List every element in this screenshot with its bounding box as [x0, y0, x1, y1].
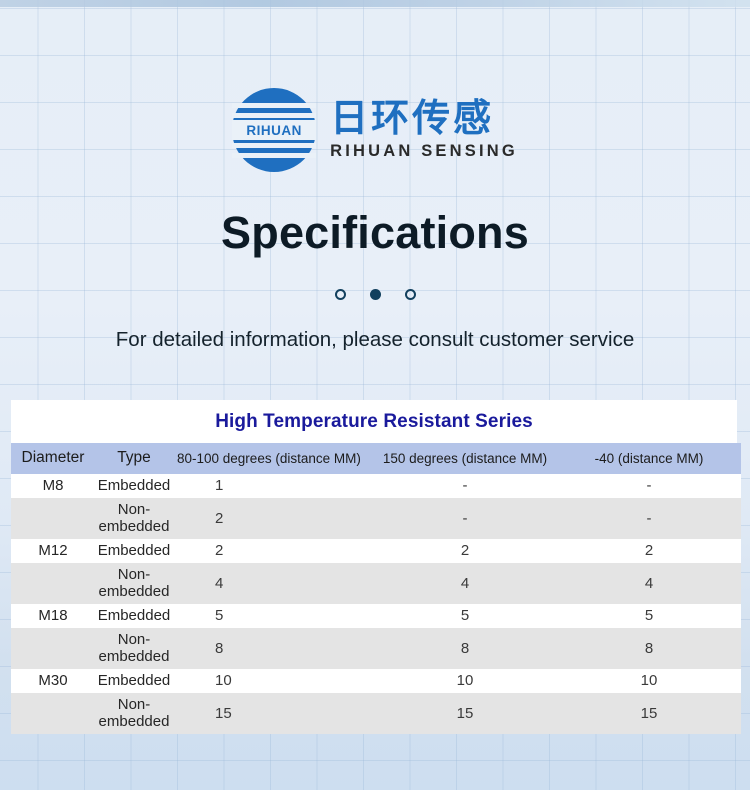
- cell-minus-40: 10: [557, 669, 741, 693]
- table-header-row: Diameter Type 80-100 degrees (distance M…: [11, 443, 741, 474]
- cell-minus-40: 4: [557, 563, 741, 604]
- cell-80-100-degrees: 5: [173, 604, 373, 628]
- cell-type: Non-embedded: [95, 628, 173, 669]
- cell-80-100-degrees: 4: [173, 563, 373, 604]
- table-row: Non-embedded888: [11, 628, 741, 669]
- logo-english-name: RIHUAN SENSING: [330, 142, 518, 161]
- logo-stripe: [232, 143, 316, 148]
- subtitle-text: For detailed information, please consult…: [0, 327, 750, 353]
- pagination-dots[interactable]: [0, 289, 750, 300]
- cell-diameter: [11, 498, 95, 539]
- cell-150-degrees: 10: [373, 669, 557, 693]
- table-row: M12Embedded222: [11, 539, 741, 563]
- logo-mark-text: RIHUAN: [246, 123, 302, 138]
- cell-80-100-degrees: 2: [173, 498, 373, 539]
- cell-type: Embedded: [95, 474, 173, 498]
- column-header-150-degrees: 150 degrees (distance MM): [373, 443, 557, 474]
- logo-wordmark: 日环传感 RIHUAN SENSING: [330, 99, 518, 161]
- cell-minus-40: 8: [557, 628, 741, 669]
- logo-disc-icon: RIHUAN: [232, 88, 316, 172]
- cell-type: Non-embedded: [95, 498, 173, 539]
- cell-diameter: M12: [11, 539, 95, 563]
- cell-type: Embedded: [95, 669, 173, 693]
- cell-diameter: [11, 693, 95, 734]
- specification-table-panel: High Temperature Resistant Series Diamet…: [11, 400, 737, 734]
- cell-80-100-degrees: 2: [173, 539, 373, 563]
- cell-diameter: [11, 628, 95, 669]
- top-accent-bar: [0, 0, 750, 7]
- table-row: Non-embedded444: [11, 563, 741, 604]
- column-header-diameter: Diameter: [11, 443, 95, 474]
- cell-80-100-degrees: 8: [173, 628, 373, 669]
- cell-type: Non-embedded: [95, 563, 173, 604]
- cell-150-degrees: 8: [373, 628, 557, 669]
- cell-diameter: M30: [11, 669, 95, 693]
- cell-150-degrees: -: [373, 474, 557, 498]
- specification-table: Diameter Type 80-100 degrees (distance M…: [11, 443, 741, 734]
- cell-150-degrees: 4: [373, 563, 557, 604]
- cell-minus-40: 5: [557, 604, 741, 628]
- cell-150-degrees: 15: [373, 693, 557, 734]
- logo-stripe: [232, 113, 316, 118]
- cell-diameter: M18: [11, 604, 95, 628]
- logo-stripe: [232, 153, 316, 158]
- table-header: Diameter Type 80-100 degrees (distance M…: [11, 443, 741, 474]
- cell-150-degrees: 2: [373, 539, 557, 563]
- cell-diameter: M8: [11, 474, 95, 498]
- cell-type: Non-embedded: [95, 693, 173, 734]
- cell-type: Embedded: [95, 539, 173, 563]
- table-row: Non-embedded2--: [11, 498, 741, 539]
- table-body: M8Embedded1--Non-embedded2--M12Embedded2…: [11, 474, 741, 734]
- column-header-minus-40: -40 (distance MM): [557, 443, 741, 474]
- cell-150-degrees: 5: [373, 604, 557, 628]
- cell-150-degrees: -: [373, 498, 557, 539]
- brand-logo: RIHUAN 日环传感 RIHUAN SENSING: [0, 88, 750, 172]
- cell-80-100-degrees: 10: [173, 669, 373, 693]
- cell-type: Embedded: [95, 604, 173, 628]
- logo-name-band: RIHUAN: [232, 120, 316, 140]
- cell-minus-40: 15: [557, 693, 741, 734]
- page-title: Specifications: [0, 207, 750, 259]
- table-row: M8Embedded1--: [11, 474, 741, 498]
- column-header-80-100-degrees: 80-100 degrees (distance MM): [173, 443, 373, 474]
- pagination-dot-3[interactable]: [405, 289, 416, 300]
- logo-stripe: [232, 103, 316, 108]
- cell-minus-40: -: [557, 498, 741, 539]
- cell-minus-40: -: [557, 474, 741, 498]
- table-title: High Temperature Resistant Series: [11, 400, 737, 443]
- logo-chinese-name: 日环传感: [330, 99, 494, 139]
- table-row: M30Embedded101010: [11, 669, 741, 693]
- table-row: Non-embedded151515: [11, 693, 741, 734]
- pagination-dot-1[interactable]: [335, 289, 346, 300]
- cell-minus-40: 2: [557, 539, 741, 563]
- column-header-type: Type: [95, 443, 173, 474]
- pagination-dot-2-active[interactable]: [370, 289, 381, 300]
- cell-diameter: [11, 563, 95, 604]
- cell-80-100-degrees: 1: [173, 474, 373, 498]
- cell-80-100-degrees: 15: [173, 693, 373, 734]
- table-row: M18Embedded555: [11, 604, 741, 628]
